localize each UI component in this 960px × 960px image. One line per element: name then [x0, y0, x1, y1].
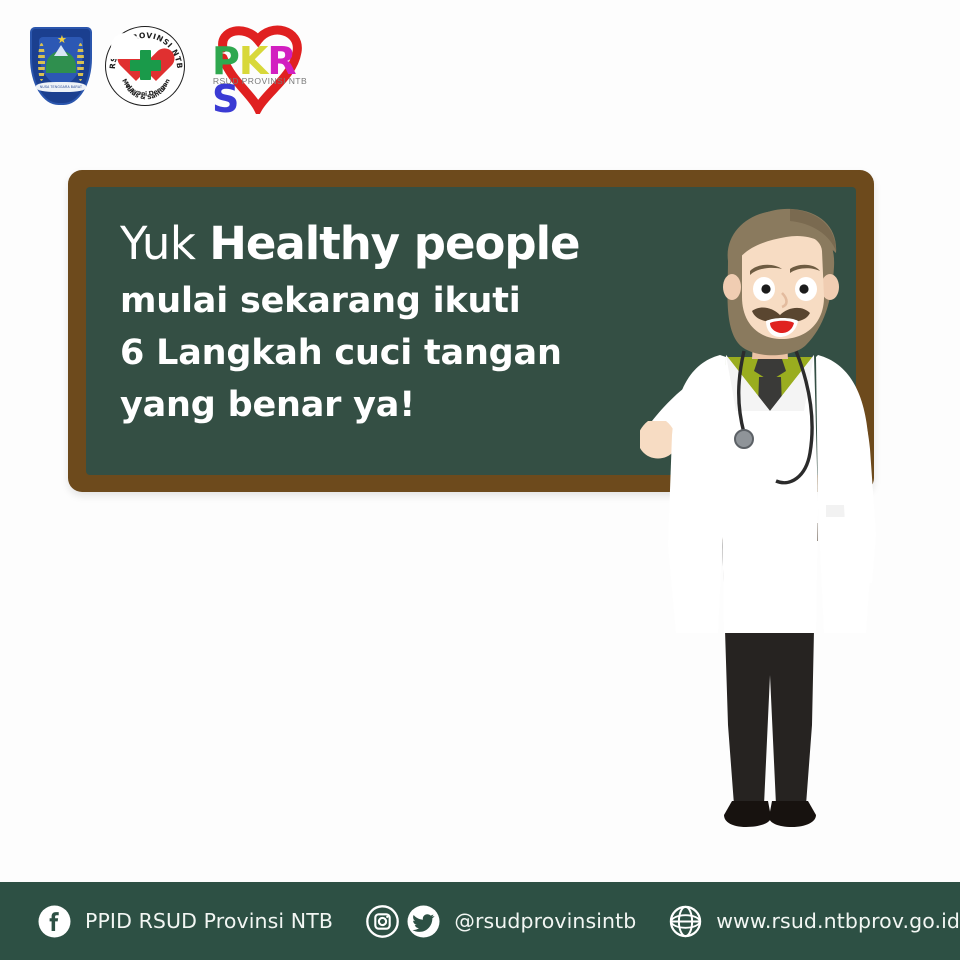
footer-item-facebook[interactable]: PPID RSUD Provinsi NTB — [38, 905, 333, 938]
pkrs-logo-icon: PKRS RSUD PROVINSI NTB — [205, 18, 313, 114]
crest-star-icon: ★ — [57, 35, 67, 46]
crest-ribbon: NUSA TENGGARA BARAT — [36, 82, 86, 92]
rsud-provinsi-ntb-seal-icon: RSUD PROVINSI NTB Melayani Dengan Tulus … — [105, 26, 185, 106]
pkrs-letter-p: P — [212, 42, 239, 80]
crest-peak — [54, 45, 68, 56]
footer-website-label: www.rsud.ntbprov.go.id — [716, 909, 960, 933]
footer-twitter-label: @rsudprovinsintb — [454, 909, 636, 933]
stethoscope-chestpiece — [735, 430, 753, 448]
crest-ribbon-label: NUSA TENGGARA BARAT — [36, 82, 86, 92]
message-line-3: 6 Langkah cuci tangan — [120, 327, 720, 379]
footer-item-twitter[interactable]: @rsudprovinsintb — [407, 905, 636, 938]
ntb-province-crest-icon: ★ NUSA TENGGARA BARAT — [30, 27, 92, 105]
footer-item-instagram[interactable] — [366, 905, 399, 938]
headline-line: Yuk Healthy people — [120, 213, 720, 275]
message-line-4: yang benar ya! — [120, 379, 720, 431]
footer-item-website[interactable]: www.rsud.ntbprov.go.id — [669, 905, 960, 938]
seal-heart-inner — [111, 33, 141, 59]
doctor-illustration — [640, 205, 950, 850]
twitter-icon[interactable] — [407, 905, 440, 938]
facebook-icon[interactable] — [38, 905, 71, 938]
footer-facebook-label: PPID RSUD Provinsi NTB — [85, 909, 333, 933]
crest-wreath-right — [77, 43, 84, 81]
footer-bar: PPID RSUD Provinsi NTB — [0, 882, 960, 960]
headline-lead: Yuk — [120, 217, 209, 270]
globe-icon[interactable] — [669, 905, 702, 938]
logo-row: ★ NUSA TENGGARA BARAT RSUD PROVINSI NTB … — [0, 0, 960, 120]
headline-strong: Healthy people — [209, 217, 579, 270]
shoes — [724, 801, 816, 827]
message-line-2: mulai sekarang ikuti — [120, 275, 720, 327]
pkrs-letter-k: K — [239, 42, 267, 80]
hand — [640, 421, 677, 459]
crest-wreath-left — [38, 43, 45, 81]
pkrs-subtitle: RSUD PROVINSI NTB — [211, 76, 309, 86]
seal-medical-cross-horizontal — [130, 60, 161, 71]
chalkboard-message: Yuk Healthy people mulai sekarang ikuti … — [120, 213, 720, 431]
poster-canvas: ★ NUSA TENGGARA BARAT RSUD PROVINSI NTB … — [0, 0, 960, 960]
instagram-icon[interactable] — [366, 905, 399, 938]
pkrs-letter-r: R — [267, 42, 295, 80]
